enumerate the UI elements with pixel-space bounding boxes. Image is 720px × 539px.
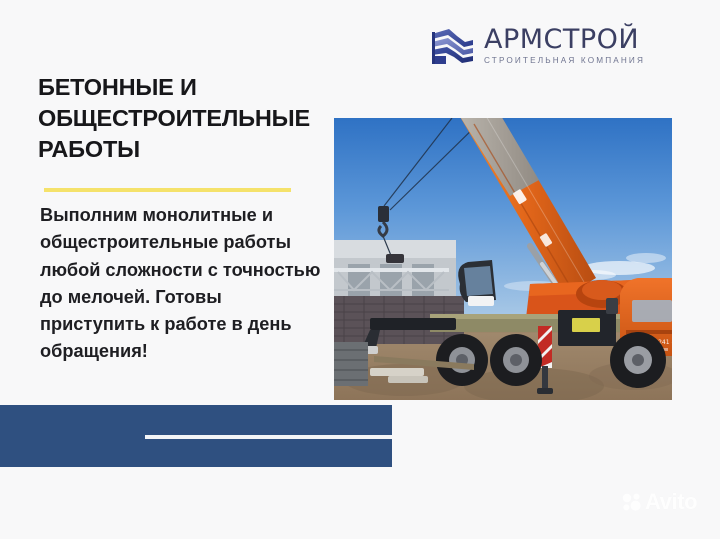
page-title: БЕТОННЫЕ И ОБЩЕСТРОИТЕЛЬНЫЕ РАБОТЫ — [38, 72, 338, 165]
stacked-building-bars-icon — [429, 26, 475, 66]
body-description: Выполним монолитные и общестроительные р… — [40, 202, 330, 366]
logo-wordmark: АРМСТРОЙ СТРОИТЕЛЬНАЯ КОМПАНИЯ — [484, 26, 645, 65]
poster-canvas: АРМСТРОЙ СТРОИТЕЛЬНАЯ КОМПАНИЯ БЕТОННЫЕ … — [0, 0, 720, 539]
crane-photo: +7 988 241 86 — [334, 118, 672, 400]
avito-watermark-text: Avito — [645, 491, 697, 513]
yellow-divider — [44, 188, 291, 192]
logo-company-subtitle: СТРОИТЕЛЬНАЯ КОМПАНИЯ — [484, 57, 645, 65]
logo-company-name: АРМСТРОЙ — [484, 26, 645, 53]
avito-watermark: Avito — [622, 491, 697, 513]
decorative-white-line — [145, 435, 392, 439]
company-logo: АРМСТРОЙ СТРОИТЕЛЬНАЯ КОМПАНИЯ — [429, 26, 645, 66]
avito-dots-icon — [622, 492, 642, 512]
